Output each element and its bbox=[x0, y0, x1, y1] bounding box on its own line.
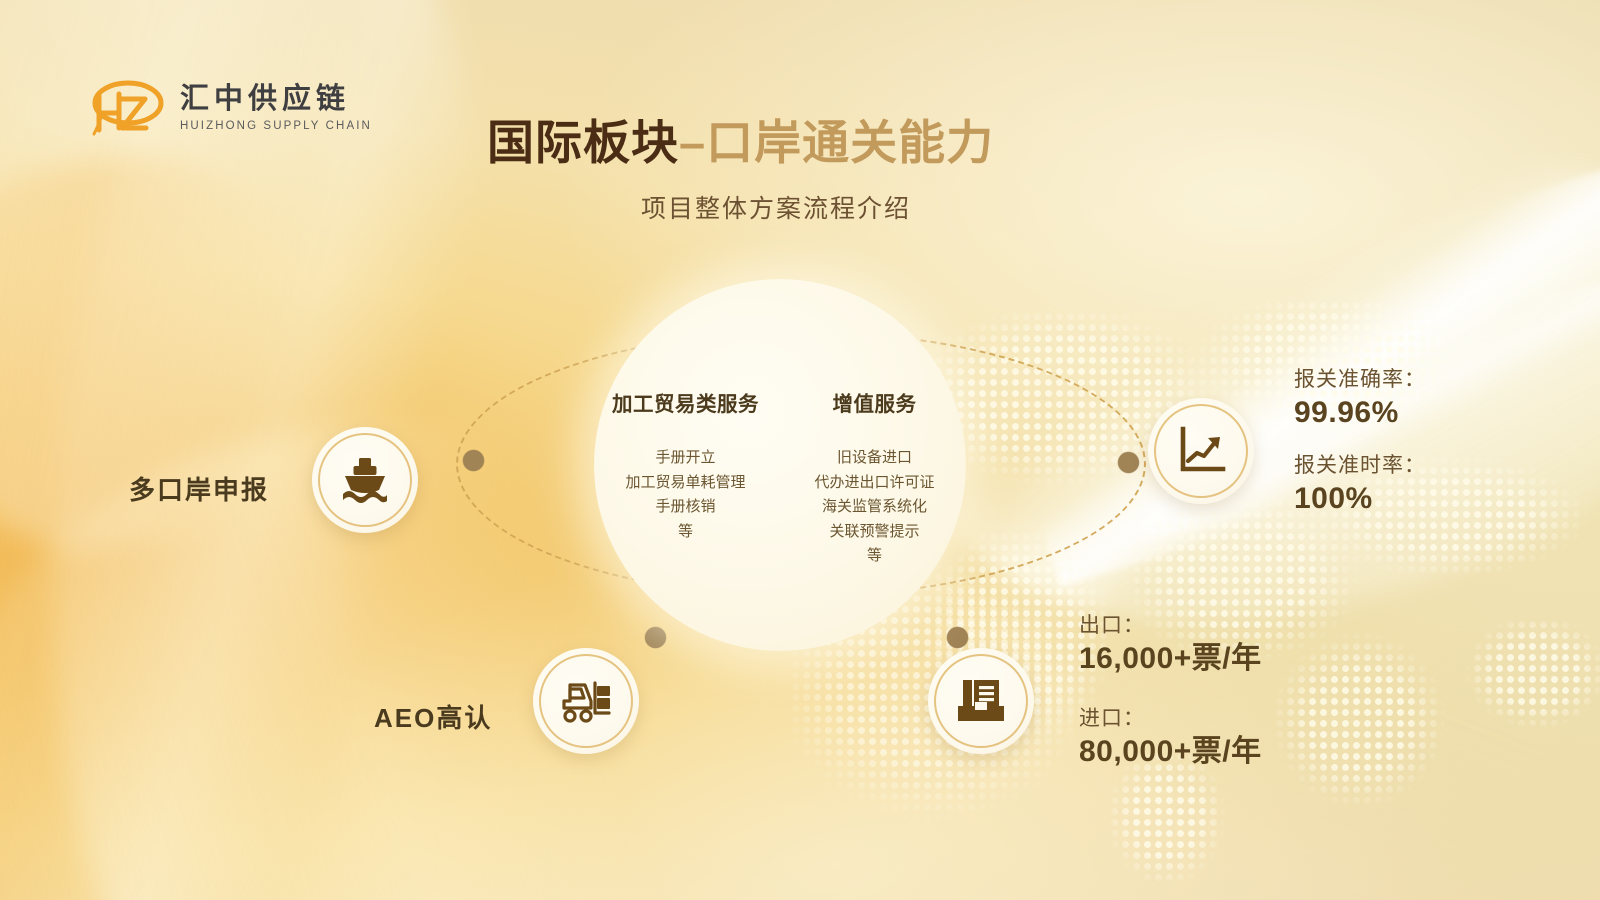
hub-column-value-added: 增值服务 旧设备进口 代办进出口许可证 海关监管系统化 关联预警提示 等 bbox=[781, 387, 966, 569]
forklift-icon bbox=[559, 675, 613, 727]
brand-name-en: HUIZHONG SUPPLY CHAIN bbox=[180, 120, 372, 132]
stat-export-volume: 出口： 16,000+票/年 bbox=[1079, 612, 1262, 678]
stat-label: 报关准时率： bbox=[1294, 452, 1426, 480]
badge-declaration-volume[interactable] bbox=[928, 648, 1034, 754]
page-title: 国际板块–口岸通关能力 bbox=[487, 104, 994, 173]
slide-canvas: 汇中供应链 HUIZHONG SUPPLY CHAIN 国际板块–口岸通关能力 … bbox=[0, 0, 1600, 900]
stat-clearance-accuracy: 报关准确率： 99.96% bbox=[1294, 366, 1426, 432]
hub-list-item: 手册开立 bbox=[594, 446, 777, 471]
stat-label: 报关准确率： bbox=[1294, 366, 1426, 394]
brand-name-cn: 汇中供应链 bbox=[180, 84, 372, 114]
orbit-node-dot-bottom-left bbox=[645, 627, 666, 648]
hub-column-heading: 增值服务 bbox=[783, 387, 966, 417]
orbit-node-dot-right bbox=[1118, 452, 1139, 473]
ship-icon bbox=[339, 454, 391, 506]
page-title-primary: 国际板块 bbox=[487, 116, 679, 169]
stat-import-volume: 进口： 80,000+票/年 bbox=[1079, 705, 1262, 771]
hub-list-item: 加工贸易单耗管理 bbox=[594, 471, 777, 496]
stat-value: 80,000+票/年 bbox=[1079, 733, 1262, 771]
hub-list-item: 旧设备进口 bbox=[783, 446, 966, 471]
hub-list-item: 海关监管系统化 bbox=[783, 495, 966, 520]
hub-list-item: 关联预警提示 bbox=[783, 520, 966, 545]
hz-monogram-icon bbox=[88, 72, 166, 144]
hub-list-item: 等 bbox=[783, 544, 966, 569]
orbit-node-dot-left bbox=[463, 450, 484, 471]
hub-column-heading: 加工贸易类服务 bbox=[594, 387, 777, 417]
label-aeo-certification: AEO高认 bbox=[374, 698, 492, 735]
hub-list-item: 代办进出口许可证 bbox=[783, 471, 966, 496]
hub-column-processing-trade: 加工贸易类服务 手册开立 加工贸易单耗管理 手册核销 等 bbox=[594, 387, 781, 569]
label-multi-port-declaration: 多口岸申报 bbox=[129, 470, 269, 507]
stat-label: 出口： bbox=[1079, 612, 1262, 640]
document-tray-icon bbox=[954, 676, 1008, 726]
hub-columns: 加工贸易类服务 手册开立 加工贸易单耗管理 手册核销 等 增值服务 旧设备进口 … bbox=[594, 387, 966, 569]
orbit-node-dot-bottom-right bbox=[947, 627, 968, 648]
stat-value: 99.96% bbox=[1294, 394, 1426, 432]
badge-aeo-certification[interactable] bbox=[533, 648, 639, 754]
badge-multi-port-declaration[interactable] bbox=[312, 427, 418, 533]
brand-logo: 汇中供应链 HUIZHONG SUPPLY CHAIN bbox=[88, 72, 372, 144]
hub-list-item: 手册核销 bbox=[594, 495, 777, 520]
hub-list-item: 等 bbox=[594, 520, 777, 545]
page-subtitle: 项目整体方案流程介绍 bbox=[641, 189, 911, 225]
growth-chart-icon bbox=[1175, 425, 1227, 477]
central-hub-circle: 加工贸易类服务 手册开立 加工贸易单耗管理 手册核销 等 增值服务 旧设备进口 … bbox=[594, 279, 966, 651]
brand-logo-text: 汇中供应链 HUIZHONG SUPPLY CHAIN bbox=[180, 84, 372, 131]
page-title-secondary: –口岸通关能力 bbox=[679, 116, 994, 169]
stat-value: 16,000+票/年 bbox=[1079, 640, 1262, 678]
badge-clearance-accuracy[interactable] bbox=[1148, 398, 1254, 504]
stat-label: 进口： bbox=[1079, 705, 1262, 733]
stat-value: 100% bbox=[1294, 480, 1426, 518]
stat-clearance-punctuality: 报关准时率： 100% bbox=[1294, 452, 1426, 518]
